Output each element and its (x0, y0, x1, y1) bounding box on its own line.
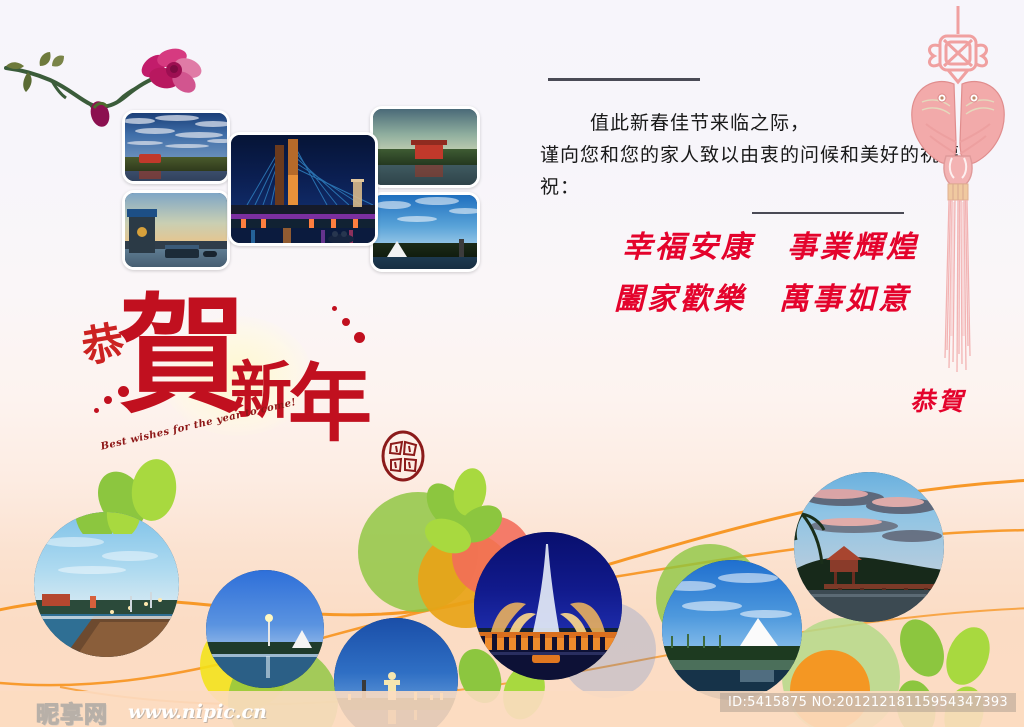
band-photo-musical-fountain-show (474, 532, 622, 680)
greeting-line-1: 值此新春佳节来临之际， (590, 108, 810, 135)
greeting-rule-bottom (752, 212, 904, 214)
watermark-url: www.nipic.cn (128, 701, 267, 723)
greeting-card-poster: 恭 賀 新 年 Best wishes for the year to come… (0, 0, 1024, 727)
greeting-wish-1: 幸福安康 事業輝煌 (622, 222, 919, 266)
bottom-decorative-band (0, 452, 1024, 727)
greeting-rule-top (548, 78, 700, 81)
collage-photo-lakeside-pavilion-autumn-sky (122, 110, 230, 184)
band-photo-sunset-pier-pavilion (794, 472, 944, 622)
watermark-id: ID:5415875 NO:20121218115954347393 (720, 693, 1016, 712)
greeting-signature: 恭賀 (910, 382, 966, 418)
collage-photo-harbor-boats-dusk (122, 190, 230, 270)
greeting-line-3: 祝： (540, 172, 580, 199)
watermark-logo: 昵享网 (36, 695, 108, 727)
greeting-wish-2: 闔家歡樂 萬事如意 (614, 274, 911, 318)
watermark-bar: 昵享网 www.nipic.cn ID:5415875 NO:201212181… (0, 691, 1024, 727)
band-photo-waterfront-promenade (34, 512, 179, 657)
band-photo-white-tent-lake (662, 560, 802, 700)
petal-accent-over-photo (72, 512, 152, 534)
band-photo-lakeside-park-lamp (206, 570, 324, 688)
collage-photo-illuminated-bridge-night (228, 132, 378, 246)
chinese-knot-icon (896, 6, 1020, 376)
collage-photo-red-pavilion-reflection (370, 106, 480, 188)
collage-photo-white-tent-riverside (370, 192, 480, 272)
top-photo-collage (112, 104, 492, 284)
headline-char-he: 賀 (118, 292, 246, 420)
